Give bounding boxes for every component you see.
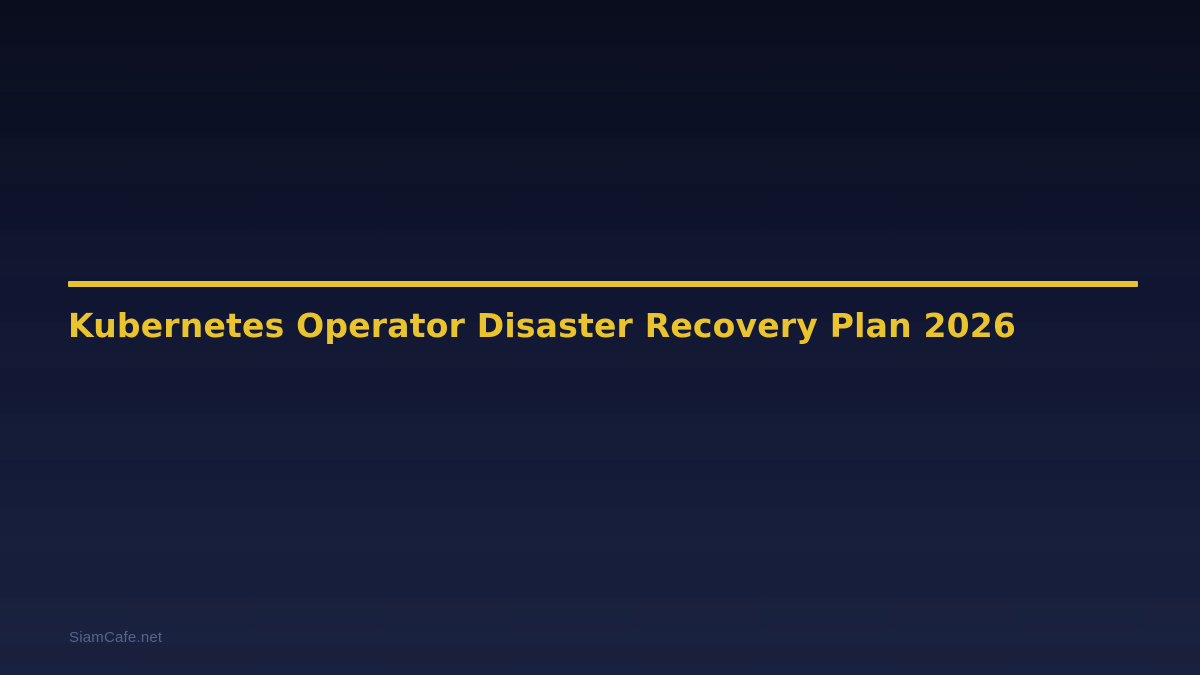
footer-brand: SiamCafe.net — [69, 629, 162, 646]
page-title: Kubernetes Operator Disaster Recovery Pl… — [68, 287, 1138, 345]
title-block: Kubernetes Operator Disaster Recovery Pl… — [68, 281, 1138, 345]
title-slide: Kubernetes Operator Disaster Recovery Pl… — [0, 0, 1200, 675]
